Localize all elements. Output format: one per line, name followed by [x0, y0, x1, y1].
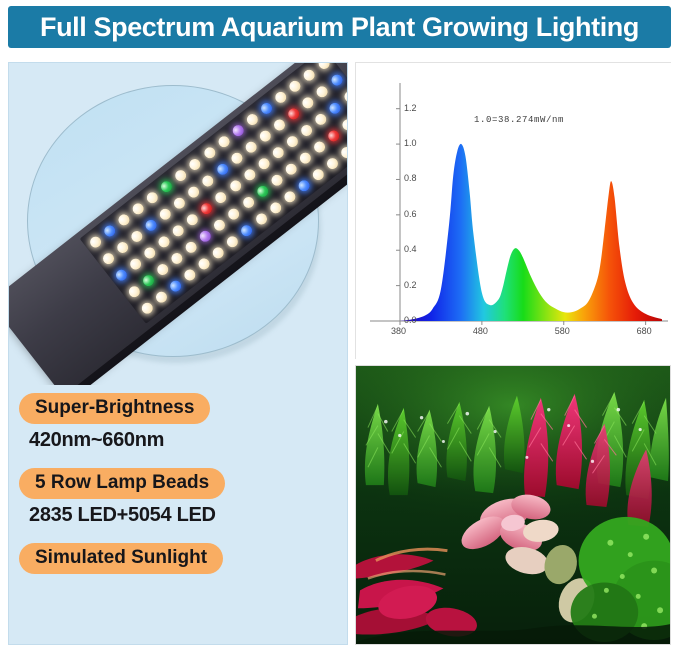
led-bead	[214, 162, 229, 177]
led-bead	[225, 234, 240, 249]
led-bead	[159, 178, 174, 193]
led-bead	[167, 278, 182, 293]
led-bead	[300, 95, 315, 110]
led-bead	[243, 139, 258, 154]
y-tick-label: 0.6	[404, 209, 417, 219]
led-bead	[116, 212, 131, 227]
feature-item: Simulated Sunlight	[19, 543, 339, 576]
led-bead	[240, 195, 255, 210]
x-tick-label: 480	[473, 326, 488, 336]
led-bead	[197, 228, 212, 243]
led-bead	[114, 240, 129, 255]
led-bead	[130, 201, 145, 216]
chart-annotation: 1.0=38.274mW/nm	[474, 115, 564, 125]
y-tick-label: 0.8	[404, 173, 417, 183]
led-bead	[299, 122, 314, 137]
led-bead	[239, 222, 254, 237]
led-bead	[273, 89, 288, 104]
led-bead	[169, 250, 184, 265]
x-tick-label: 680	[637, 326, 652, 336]
led-bead	[139, 300, 154, 315]
led-bead	[229, 150, 244, 165]
led-bead	[155, 262, 170, 277]
led-bead	[196, 256, 211, 271]
led-bead	[327, 100, 342, 115]
page-title: Full Spectrum Aquarium Plant Growing Lig…	[40, 12, 639, 43]
led-bead	[283, 161, 298, 176]
led-bead	[186, 184, 201, 199]
y-tick-label: 1.2	[404, 103, 417, 113]
led-bead	[156, 234, 171, 249]
led-bead	[212, 217, 227, 232]
led-bead	[129, 228, 144, 243]
led-bead	[267, 200, 282, 215]
led-bead	[244, 112, 259, 127]
led-bead	[87, 234, 102, 249]
led-bead	[127, 256, 142, 271]
y-tick-label: 0.4	[404, 244, 417, 254]
led-bead	[310, 167, 325, 182]
left-info-panel: Super-Brightness 420nm~660nm 5 Row Lamp …	[8, 62, 348, 645]
led-bead	[226, 206, 241, 221]
led-bead	[254, 183, 269, 198]
led-bead	[199, 200, 214, 215]
led-bead	[313, 111, 328, 126]
led-bead	[187, 156, 202, 171]
led-bead	[269, 172, 284, 187]
led-bead	[126, 284, 141, 299]
led-bead	[257, 128, 272, 143]
led-bead	[170, 223, 185, 238]
feature-list: Super-Brightness 420nm~660nm 5 Row Lamp …	[19, 393, 339, 576]
led-bead	[143, 217, 158, 232]
led-bead	[339, 144, 347, 159]
led-bead	[216, 134, 231, 149]
led-bead	[284, 133, 299, 148]
led-bead	[314, 83, 329, 98]
led-bead	[200, 173, 215, 188]
feature-item: 5 Row Lamp Beads 2835 LED+5054 LED	[19, 468, 339, 527]
led-bead	[184, 212, 199, 227]
led-bead	[253, 211, 268, 226]
led-bead	[227, 178, 242, 193]
led-bead	[312, 139, 327, 154]
feature-badge-simulated-sunlight: Simulated Sunlight	[19, 543, 223, 574]
y-tick-label: 0.0	[404, 315, 417, 325]
led-bead	[210, 245, 225, 260]
led-bead	[101, 223, 116, 238]
led-bead	[256, 156, 271, 171]
product-photo	[9, 63, 347, 385]
led-bead	[301, 67, 316, 82]
led-bead	[340, 117, 347, 132]
led-bead	[100, 251, 115, 266]
led-bead	[287, 78, 302, 93]
y-tick-label: 0.2	[404, 280, 417, 290]
x-tick-label: 380	[391, 326, 406, 336]
led-bead	[173, 167, 188, 182]
led-bead	[282, 189, 297, 204]
led-bead	[183, 239, 198, 254]
led-bead	[296, 178, 311, 193]
spectrum-chart: 1.0=38.274mW/nm 0.00.20.40.60.81.01.2380…	[356, 63, 670, 358]
led-bead	[270, 145, 285, 160]
led-bead	[171, 195, 186, 210]
led-bead	[201, 145, 216, 160]
led-bead	[142, 245, 157, 260]
led-bead	[157, 206, 172, 221]
led-bead	[144, 190, 159, 205]
led-bead	[342, 89, 347, 104]
header-banner: Full Spectrum Aquarium Plant Growing Lig…	[8, 6, 671, 48]
led-bead	[213, 189, 228, 204]
led-bead	[329, 72, 344, 87]
led-light-bar	[9, 63, 347, 385]
feature-sub-brightness: 420nm~660nm	[29, 429, 339, 452]
led-bead	[326, 128, 341, 143]
x-tick-label: 580	[555, 326, 570, 336]
led-bead	[297, 150, 312, 165]
led-bead	[182, 267, 197, 282]
led-bead	[230, 123, 245, 138]
y-tick-label: 1.0	[404, 138, 417, 148]
feature-badge-brightness: Super-Brightness	[19, 393, 210, 424]
led-bead	[316, 63, 331, 71]
spectrum-chart-panel: 1.0=38.274mW/nm 0.00.20.40.60.81.01.2380…	[355, 62, 671, 359]
aquarium-plant-photo	[355, 365, 671, 645]
led-bead	[286, 106, 301, 121]
feature-badge-lamp-beads: 5 Row Lamp Beads	[19, 468, 225, 499]
feature-item: Super-Brightness 420nm~660nm	[19, 393, 339, 452]
led-bead	[140, 273, 155, 288]
led-bead	[153, 289, 168, 304]
led-bead	[113, 267, 128, 282]
led-bead	[242, 167, 257, 182]
led-bead	[325, 155, 340, 170]
led-bead	[259, 100, 274, 115]
feature-sub-lamp-beads: 2835 LED+5054 LED	[29, 504, 339, 527]
led-bead	[271, 117, 286, 132]
